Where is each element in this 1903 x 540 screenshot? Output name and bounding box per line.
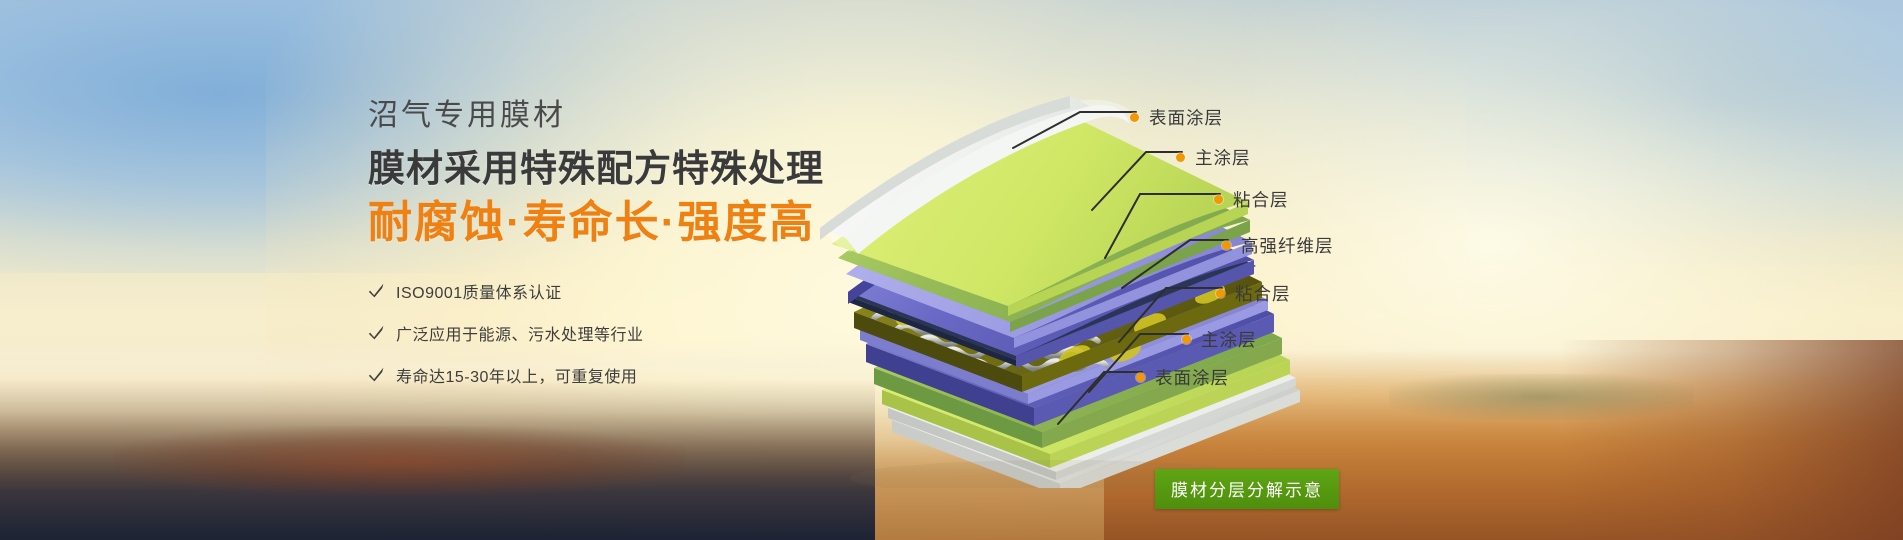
callout-dot-icon [1176,153,1185,162]
callout-label: 粘合层 [1235,281,1291,306]
callout-dot-icon [1136,373,1145,382]
list-item-label: ISO9001质量体系认证 [396,279,562,303]
callout-label: 表面涂层 [1149,105,1223,130]
callout-label: 表面涂层 [1155,365,1229,390]
check-icon [368,324,385,341]
check-icon [368,282,385,299]
list-item-label: 广泛应用于能源、污水处理等行业 [396,321,644,345]
callout-dot-icon [1130,113,1139,122]
callout-high-strength-fiber: 高强纤维层 [1222,233,1334,258]
callout-main-coating-bottom: 主涂层 [1182,327,1257,352]
callout-label: 粘合层 [1233,187,1289,212]
membrane-product-banner: 沼气专用膜材 膜材采用特殊配方特殊处理 耐腐蚀·寿命长·强度高 ISO9001质… [0,0,1903,540]
callout-surface-coating-bottom: 表面涂层 [1136,365,1229,390]
callout-label: 主涂层 [1195,145,1251,170]
callout-dot-icon [1216,289,1225,298]
background-ground-green-patch [1389,374,1693,420]
callout-dot-icon [1214,195,1223,204]
callout-bonding-top: 粘合层 [1214,187,1289,212]
membrane-layer-illustration [660,68,1300,488]
callout-main-coating-top: 主涂层 [1176,145,1251,170]
callout-dot-icon [1222,241,1231,250]
illustration-caption-badge: 膜材分层分解示意 [1155,469,1339,509]
background-ground-left-warm [114,426,685,496]
callout-surface-coating-top: 表面涂层 [1130,105,1223,130]
callout-label: 高强纤维层 [1241,233,1334,258]
background-ground-right-shadow [1560,340,1903,540]
callout-bonding-bottom: 粘合层 [1216,281,1291,306]
list-item-label: 寿命达15-30年以上，可重复使用 [396,363,637,387]
callout-dot-icon [1182,335,1191,344]
check-icon [368,366,385,383]
callout-label: 主涂层 [1201,327,1257,352]
